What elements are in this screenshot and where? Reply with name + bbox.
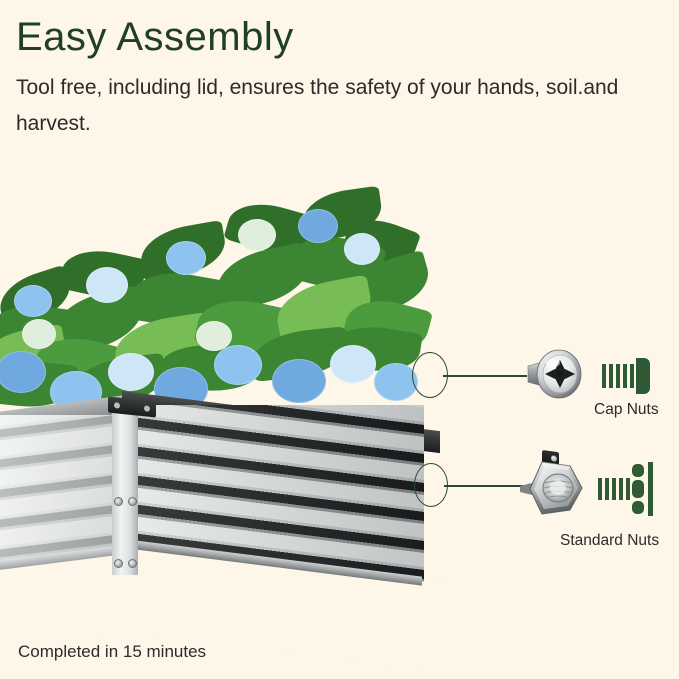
standard-nut-marker-ellipse	[414, 463, 448, 507]
bed-corner-post	[112, 407, 138, 575]
product-photo-scene	[0, 155, 460, 605]
footnote-text: Completed in 15 minutes	[18, 641, 206, 663]
subheading-text: Tool free, including lid, ensures the sa…	[16, 70, 626, 142]
raised-garden-bed	[0, 383, 446, 613]
standard-nut-leader-line	[444, 485, 526, 487]
standard-nuts-label: Standard Nuts	[560, 532, 659, 550]
page-title: Easy Assembly	[16, 12, 294, 62]
cap-nut-schematic	[600, 350, 652, 402]
hex-nut-schematic	[598, 460, 656, 518]
hex-nut-photo	[518, 458, 590, 520]
cap-nut-photo	[524, 346, 588, 404]
hydrangea-foliage	[0, 155, 410, 405]
product-feature-image: Easy Assembly Tool free, including lid, …	[0, 0, 679, 679]
cap-nuts-label: Cap Nuts	[594, 401, 659, 419]
cap-nut-leader-line	[443, 375, 527, 377]
